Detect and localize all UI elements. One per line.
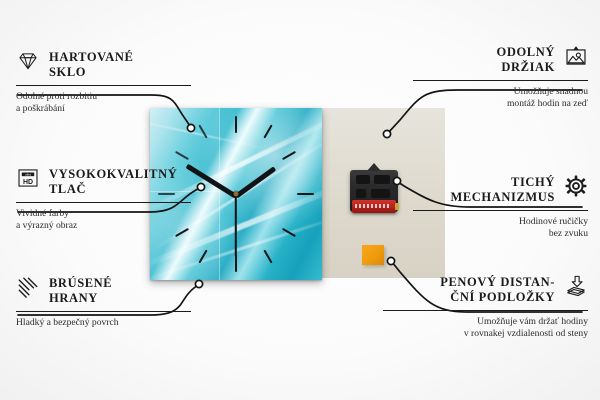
feature-title-line2: TLAČ xyxy=(49,182,191,197)
foam-pad-icon xyxy=(564,275,588,297)
feature-subtitle-line2: bez zvuku xyxy=(413,228,588,240)
feature-title-line2: ČNÍ PODLOŽKY xyxy=(383,290,555,305)
feature-divider xyxy=(16,85,191,86)
feature-divider xyxy=(413,210,588,211)
feature-divider xyxy=(16,202,191,203)
connector-dot-right-top xyxy=(383,130,390,137)
feature-subtitle-line2: a výrazný obraz xyxy=(16,220,191,232)
feature-subtitle-line2: a poškrábání xyxy=(16,103,191,115)
connector-dot-left-bottom xyxy=(195,280,202,287)
gear-icon xyxy=(564,175,588,197)
feature-heading: PENOVÝ DISTAN- ČNÍ PODLOŽKY xyxy=(383,275,588,305)
feature-title-line1: PENOVÝ DISTAN- xyxy=(383,275,555,290)
ultra-hd-icon: ultra HD xyxy=(16,167,40,189)
feature-title-line1: BRÚSENÉ xyxy=(49,276,191,291)
feature-title-line2: MECHANIZMUS xyxy=(413,190,555,205)
feature-title: VYSOKOKVALITNÝ TLAČ xyxy=(49,167,191,197)
diamond-icon xyxy=(16,50,40,72)
connector-dot-left-top xyxy=(187,124,194,131)
feature-subtitle: Umožňuje snadnou montáž hodin na zeď xyxy=(413,86,588,110)
feature-subtitle: Vividné farby a výrazný obraz xyxy=(16,208,191,232)
feature-divider xyxy=(413,80,588,81)
feature-title: PENOVÝ DISTAN- ČNÍ PODLOŽKY xyxy=(383,275,555,305)
feature-subtitle: Umožňuje vám držať hodiny v rovnakej vzd… xyxy=(383,316,588,340)
feature-subtitle-line1: Hodinové ručičky xyxy=(413,216,588,228)
feature-divider xyxy=(16,311,191,312)
feature-block-silent-mechanism: TICHÝ MECHANIZMUS Hodinové ručičky bez z… xyxy=(413,175,588,240)
feature-title-line1: VYSOKOKVALITNÝ xyxy=(49,167,191,182)
promo-infographic: HARTOVANÉ SKLO Odolné proti rozbitiu a p… xyxy=(0,0,600,400)
feature-heading: BRÚSENÉ HRANY xyxy=(16,276,191,306)
feature-subtitle-line2: v rovnakej vzdialenosti od steny xyxy=(383,328,588,340)
feature-subtitle: Hodinové ručičky bez zvuku xyxy=(413,216,588,240)
feature-title: BRÚSENÉ HRANY xyxy=(49,276,191,306)
feature-subtitle: Odolné proti rozbitiu a poškrábání xyxy=(16,91,191,115)
connector-dot-right-middle xyxy=(393,177,400,184)
feature-title-line2: HRANY xyxy=(49,291,191,306)
feature-title: ODOLNÝ DRŽIAK xyxy=(413,45,555,75)
svg-text:ultra: ultra xyxy=(25,173,31,177)
feature-subtitle-line1: Odolné proti rozbitiu xyxy=(16,91,191,103)
feature-title-line1: TICHÝ xyxy=(413,175,555,190)
feature-subtitle-line1: Vividné farby xyxy=(16,208,191,220)
feature-heading: ODOLNÝ DRŽIAK xyxy=(413,45,588,75)
feature-block-ground-edges: BRÚSENÉ HRANY Hladký a bezpečný povrch xyxy=(16,276,191,329)
svg-text:HD: HD xyxy=(23,179,33,186)
feature-title-line1: HARTOVANÉ xyxy=(49,50,191,65)
feature-subtitle-line1: Umožňuje snadnou xyxy=(413,86,588,98)
feature-block-tempered-glass: HARTOVANÉ SKLO Odolné proti rozbitiu a p… xyxy=(16,50,191,115)
connector-dot-left-middle xyxy=(197,183,204,190)
feature-subtitle: Hladký a bezpečný povrch xyxy=(16,317,191,329)
feature-heading: TICHÝ MECHANIZMUS xyxy=(413,175,588,205)
feature-title-line2: DRŽIAK xyxy=(413,60,555,75)
feature-subtitle-line2: montáž hodin na zeď xyxy=(413,98,588,110)
feature-subtitle-line1: Hladký a bezpečný povrch xyxy=(16,317,191,329)
feature-heading: HARTOVANÉ SKLO xyxy=(16,50,191,80)
feature-subtitle-line1: Umožňuje vám držať hodiny xyxy=(383,316,588,328)
connector-dot-right-bottom xyxy=(387,257,394,264)
feature-block-durable-hanger: ODOLNÝ DRŽIAK Umožňuje snadnou montáž ho… xyxy=(413,45,588,110)
feature-block-foam-spacers: PENOVÝ DISTAN- ČNÍ PODLOŽKY Umožňuje vám… xyxy=(383,275,588,340)
feature-title: TICHÝ MECHANIZMUS xyxy=(413,175,555,205)
picture-hanger-icon xyxy=(564,45,588,67)
feature-divider xyxy=(383,310,588,311)
feature-title-line1: ODOLNÝ xyxy=(413,45,555,60)
feature-title-line2: SKLO xyxy=(49,65,191,80)
feature-title: HARTOVANÉ SKLO xyxy=(49,50,191,80)
feature-heading: ultra HD VYSOKOKVALITNÝ TLAČ xyxy=(16,167,191,197)
ground-edges-icon xyxy=(16,276,40,298)
feature-block-hd-print: ultra HD VYSOKOKVALITNÝ TLAČ Vividné far… xyxy=(16,167,191,232)
